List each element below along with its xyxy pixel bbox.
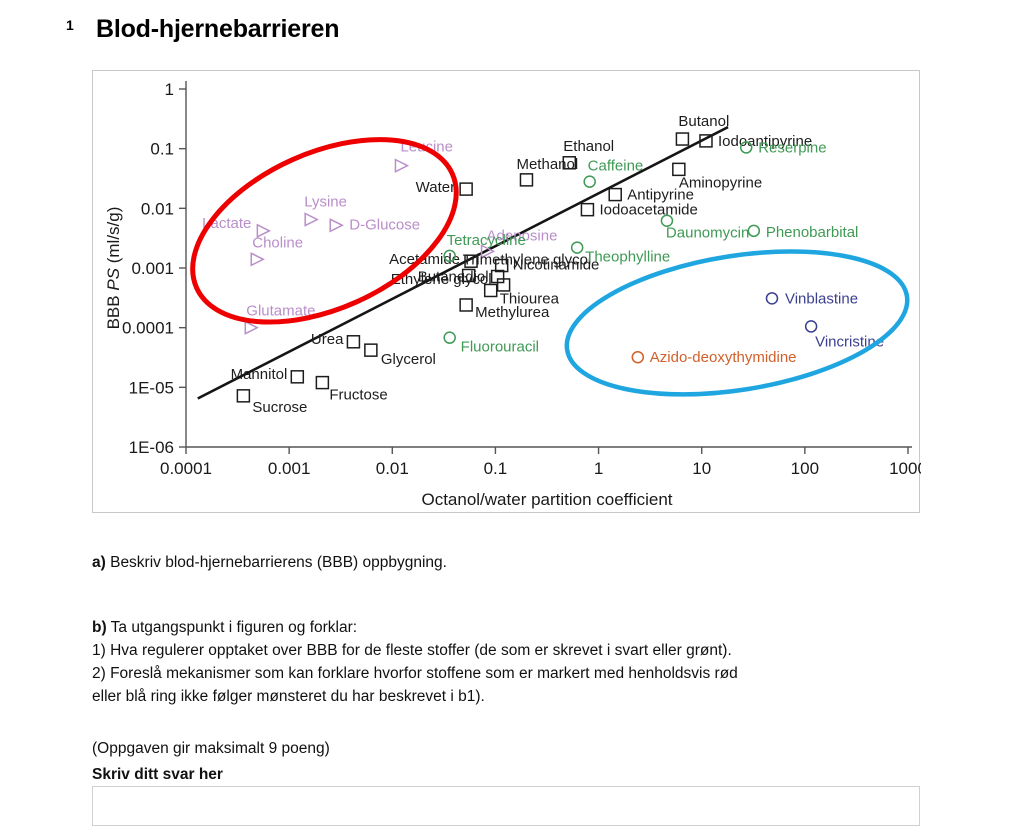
y-tick-label: 0.001 <box>131 259 174 278</box>
data-point: Choline <box>251 234 303 265</box>
task-b: b) Ta utgangspunkt i figuren og forklar: <box>92 617 357 639</box>
task-a-marker: a) <box>92 554 106 571</box>
answer-prompt: Skriv ditt svar her <box>92 764 223 786</box>
data-point-label: Choline <box>252 234 303 251</box>
answer-textbox[interactable] <box>92 786 920 826</box>
y-tick-label: 0.1 <box>150 140 174 159</box>
data-point: Iodoacetamide <box>581 202 697 219</box>
task-b2-line1: 2) Foreslå mekanismer som kan forklare h… <box>92 663 738 685</box>
task-b-marker: b) <box>92 619 107 636</box>
data-point-label: Mannitol <box>231 366 288 383</box>
y-tick-label: 1E-05 <box>129 378 174 397</box>
data-point: Azido-deoxythymidine <box>632 349 796 366</box>
x-tick-label: 0.01 <box>376 459 409 478</box>
marker-square <box>581 204 593 216</box>
task-a-text: Beskriv blod-hjernebarrierens (BBB) oppb… <box>106 554 447 571</box>
marker-square <box>316 377 328 389</box>
data-point-label: D-Glucose <box>349 216 420 233</box>
data-point-label: Sucrose <box>252 399 307 416</box>
bbb-scatter-figure: 10.10.010.0010.00011E-051E-060.00010.001… <box>92 70 920 513</box>
data-point-label: Reserpine <box>758 139 826 156</box>
scatter-plot: 10.10.010.0010.00011E-051E-060.00010.001… <box>93 71 921 514</box>
x-tick-label: 0.001 <box>268 459 311 478</box>
marker-square <box>347 336 359 348</box>
data-point-label: Ethanol <box>563 138 614 155</box>
points-note: (Oppgaven gir maksimalt 9 poeng) <box>92 738 330 760</box>
marker-triangle <box>330 219 342 231</box>
marker-square <box>460 183 472 195</box>
exam-question-page: 1 Blod-hjernebarrieren 10.10.010.0010.00… <box>0 0 1014 792</box>
y-tick-label: 1 <box>165 80 174 99</box>
task-a: a) Beskriv blod-hjernebarrierens (BBB) o… <box>92 552 447 574</box>
marker-square <box>291 371 303 383</box>
task-b-text: Ta utgangspunkt i figuren og forklar: <box>107 619 357 636</box>
data-point-label: Iodoacetamide <box>599 202 697 219</box>
page-title: Blod-hjernebarrieren <box>96 15 339 44</box>
data-point: Phenobarbital <box>748 224 858 241</box>
marker-circle <box>748 225 759 236</box>
marker-circle <box>766 293 777 304</box>
x-axis-title: Octanol/water partition coefficient <box>421 490 672 509</box>
data-point: Fluorouracil <box>444 332 539 356</box>
marker-square <box>365 344 377 356</box>
task-b2-line2: eller blå ring ikke følger mønsteret du … <box>92 686 485 708</box>
data-point: Fructose <box>316 377 387 404</box>
data-point-label: Azido-deoxythymidine <box>650 349 797 366</box>
marker-square <box>460 299 472 311</box>
marker-triangle <box>251 253 263 265</box>
y-tick-label: 0.01 <box>141 199 174 218</box>
data-point-label: Vincristine <box>815 333 884 350</box>
x-tick-label: 100 <box>791 459 819 478</box>
x-tick-label: 10 <box>692 459 711 478</box>
data-point-label: Caffeine <box>588 158 644 175</box>
data-point: Vinblastine <box>766 290 858 307</box>
marker-circle <box>632 352 643 363</box>
data-point-label: Glycerol <box>381 351 436 368</box>
data-point-label: Vinblastine <box>785 290 858 307</box>
data-point-label: Urea <box>311 331 344 348</box>
marker-triangle <box>395 160 407 172</box>
y-axis-title: BBB PS (ml/s/g) <box>104 207 123 330</box>
marker-square <box>609 189 621 201</box>
data-point-label: Butanol <box>678 113 729 130</box>
data-point: Mannitol <box>231 366 304 383</box>
data-point-label: Water <box>416 179 455 196</box>
x-tick-label: 1000 <box>889 459 921 478</box>
marker-square <box>520 174 532 186</box>
marker-circle <box>444 332 455 343</box>
data-point-label: Tetracycline <box>447 232 526 249</box>
data-point-label: Fructose <box>329 387 387 404</box>
x-tick-label: 0.1 <box>484 459 508 478</box>
task-b1: 1) Hva regulerer opptaket over BBB for d… <box>92 640 732 662</box>
data-point-label: Methanol <box>516 156 578 173</box>
question-number: 1 <box>66 17 74 33</box>
data-point: Lysine <box>304 193 347 225</box>
data-point-label: Lysine <box>304 193 347 210</box>
data-point-label: Fluorouracil <box>461 339 539 356</box>
marker-circle <box>584 176 595 187</box>
marker-circle <box>806 321 817 332</box>
y-tick-label: 0.0001 <box>122 319 174 338</box>
data-point: Theophylline <box>572 242 671 266</box>
data-point: Methanol <box>516 156 578 186</box>
y-tick-label: 1E-06 <box>129 438 174 457</box>
data-point-label: Methylurea <box>475 304 550 321</box>
data-point: Glycerol <box>365 344 436 368</box>
data-point: Water <box>416 179 472 196</box>
data-point-label: Butanediol <box>418 269 489 286</box>
x-tick-label: 0.0001 <box>160 459 212 478</box>
data-point: D-Glucose <box>330 216 420 233</box>
x-tick-label: 1 <box>594 459 603 478</box>
data-point-label: Phenobarbital <box>766 224 859 241</box>
data-point: Urea <box>311 331 360 348</box>
data-point: Daunomycin <box>661 215 749 242</box>
data-point: Sucrose <box>237 390 307 416</box>
svg-text:BBB PS (ml/s/g): BBB PS (ml/s/g) <box>104 207 123 330</box>
marker-square <box>237 390 249 402</box>
marker-square <box>676 133 688 145</box>
data-point: Caffeine <box>584 158 643 188</box>
data-point-label: Daunomycin <box>666 225 749 242</box>
data-point-label: Theophylline <box>585 249 670 266</box>
marker-triangle <box>305 213 317 225</box>
